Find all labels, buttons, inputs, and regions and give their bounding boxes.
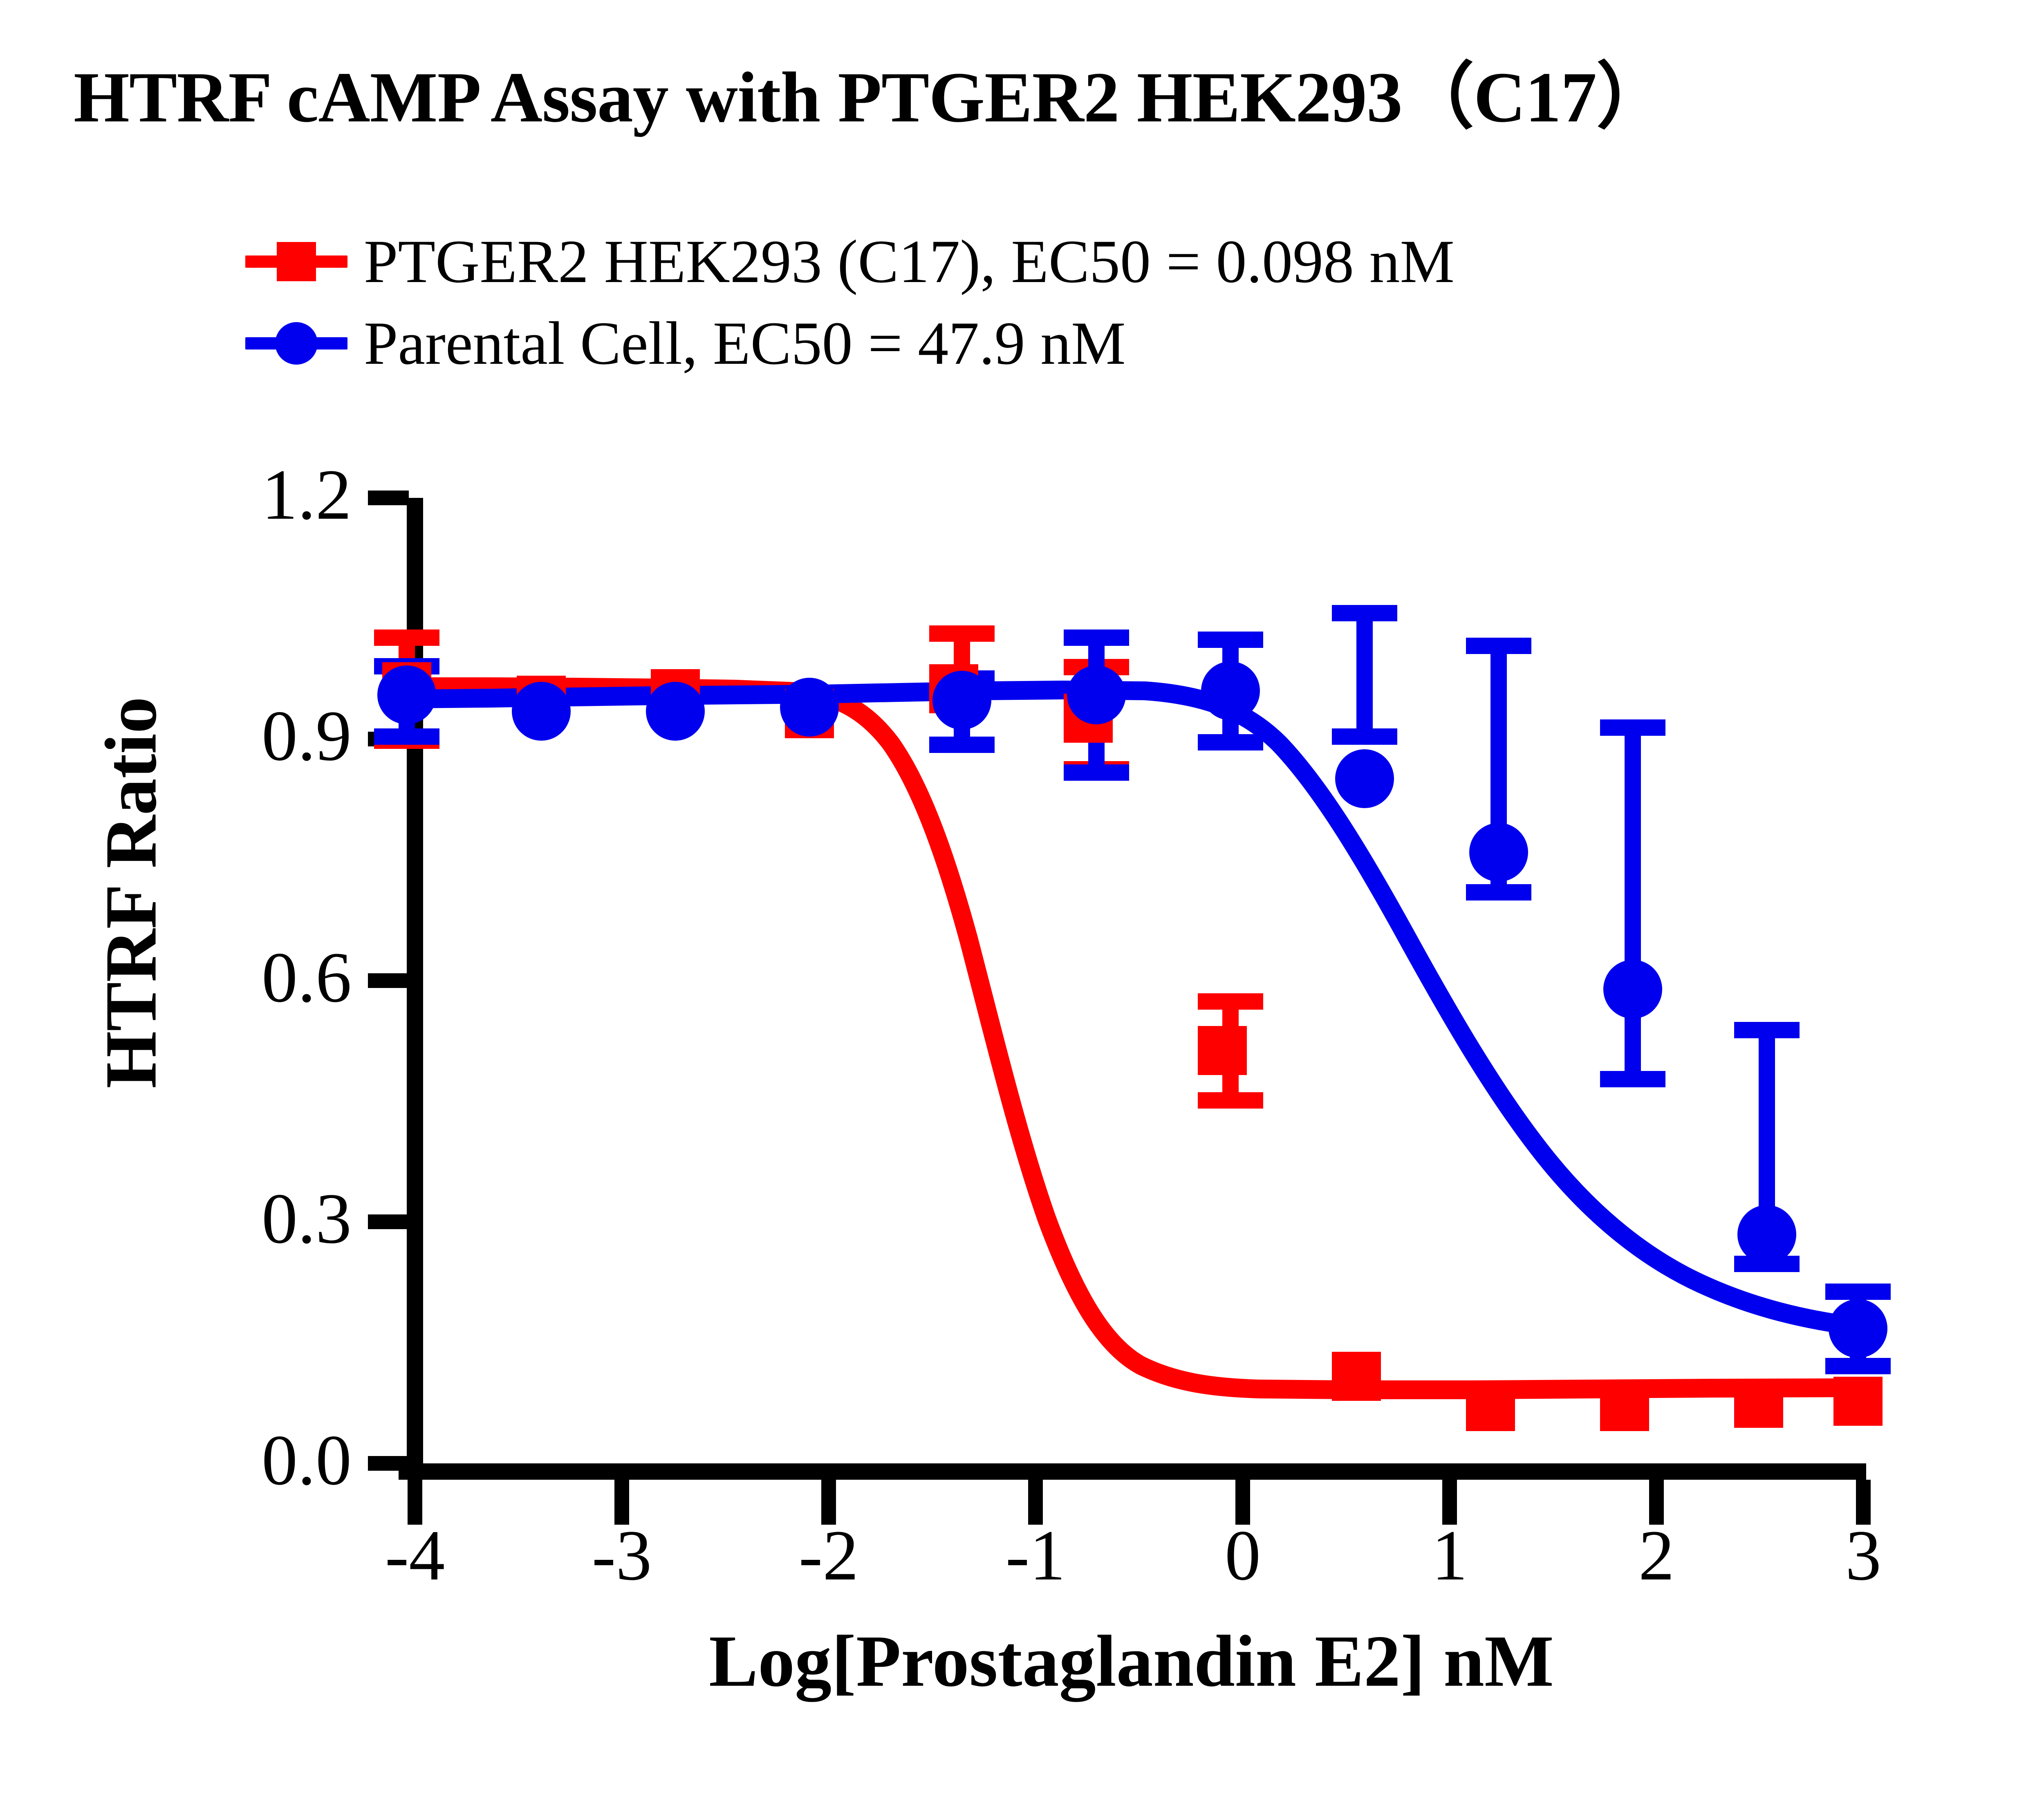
data-point xyxy=(780,678,839,737)
data-point xyxy=(1737,1205,1796,1264)
y-axis-title: HTRF Ratio xyxy=(89,607,173,1179)
plot-area: 1.2 0.9 0.6 0.3 0.0 -4 -3 -2 -1 0 1 2 3 … xyxy=(0,0,2044,1819)
xtick-label-1: -4 xyxy=(354,1514,476,1597)
data-point xyxy=(1603,960,1662,1019)
x-axis-title: Log[Prostaglandin E2] nM xyxy=(407,1619,1856,1703)
data-point xyxy=(512,682,571,741)
x-axis-line xyxy=(399,1463,1866,1480)
xtick-label-7: 2 xyxy=(1595,1514,1718,1597)
ytick-label-1: 1.2 xyxy=(123,454,352,536)
data-point xyxy=(1067,665,1126,724)
data-point xyxy=(1734,1379,1783,1428)
data-point xyxy=(1833,1377,1883,1426)
xtick-label-2: -3 xyxy=(560,1514,683,1597)
xtick-label-5: 0 xyxy=(1181,1514,1304,1597)
data-point xyxy=(1201,661,1260,720)
data-markers-red xyxy=(382,662,1883,1431)
data-point xyxy=(932,671,991,730)
data-point xyxy=(1466,1382,1515,1431)
xtick-label-4: -1 xyxy=(974,1514,1097,1597)
ytick-label-5: 0.0 xyxy=(123,1419,352,1502)
xtick-label-3: -2 xyxy=(767,1514,890,1597)
data-point xyxy=(1335,749,1394,808)
data-point xyxy=(1600,1382,1649,1431)
data-point xyxy=(1469,823,1528,882)
data-point xyxy=(646,682,705,741)
data-point xyxy=(377,665,436,724)
data-point xyxy=(1198,1026,1247,1075)
data-point xyxy=(1829,1299,1887,1358)
ytick-label-4: 0.3 xyxy=(123,1178,352,1260)
xtick-label-8: 3 xyxy=(1802,1514,1925,1597)
data-point xyxy=(1332,1352,1381,1401)
xtick-label-6: 1 xyxy=(1388,1514,1511,1597)
chart-figure: HTRF cAMP Assay with PTGER2 HEK293（C17） … xyxy=(0,0,2044,1819)
